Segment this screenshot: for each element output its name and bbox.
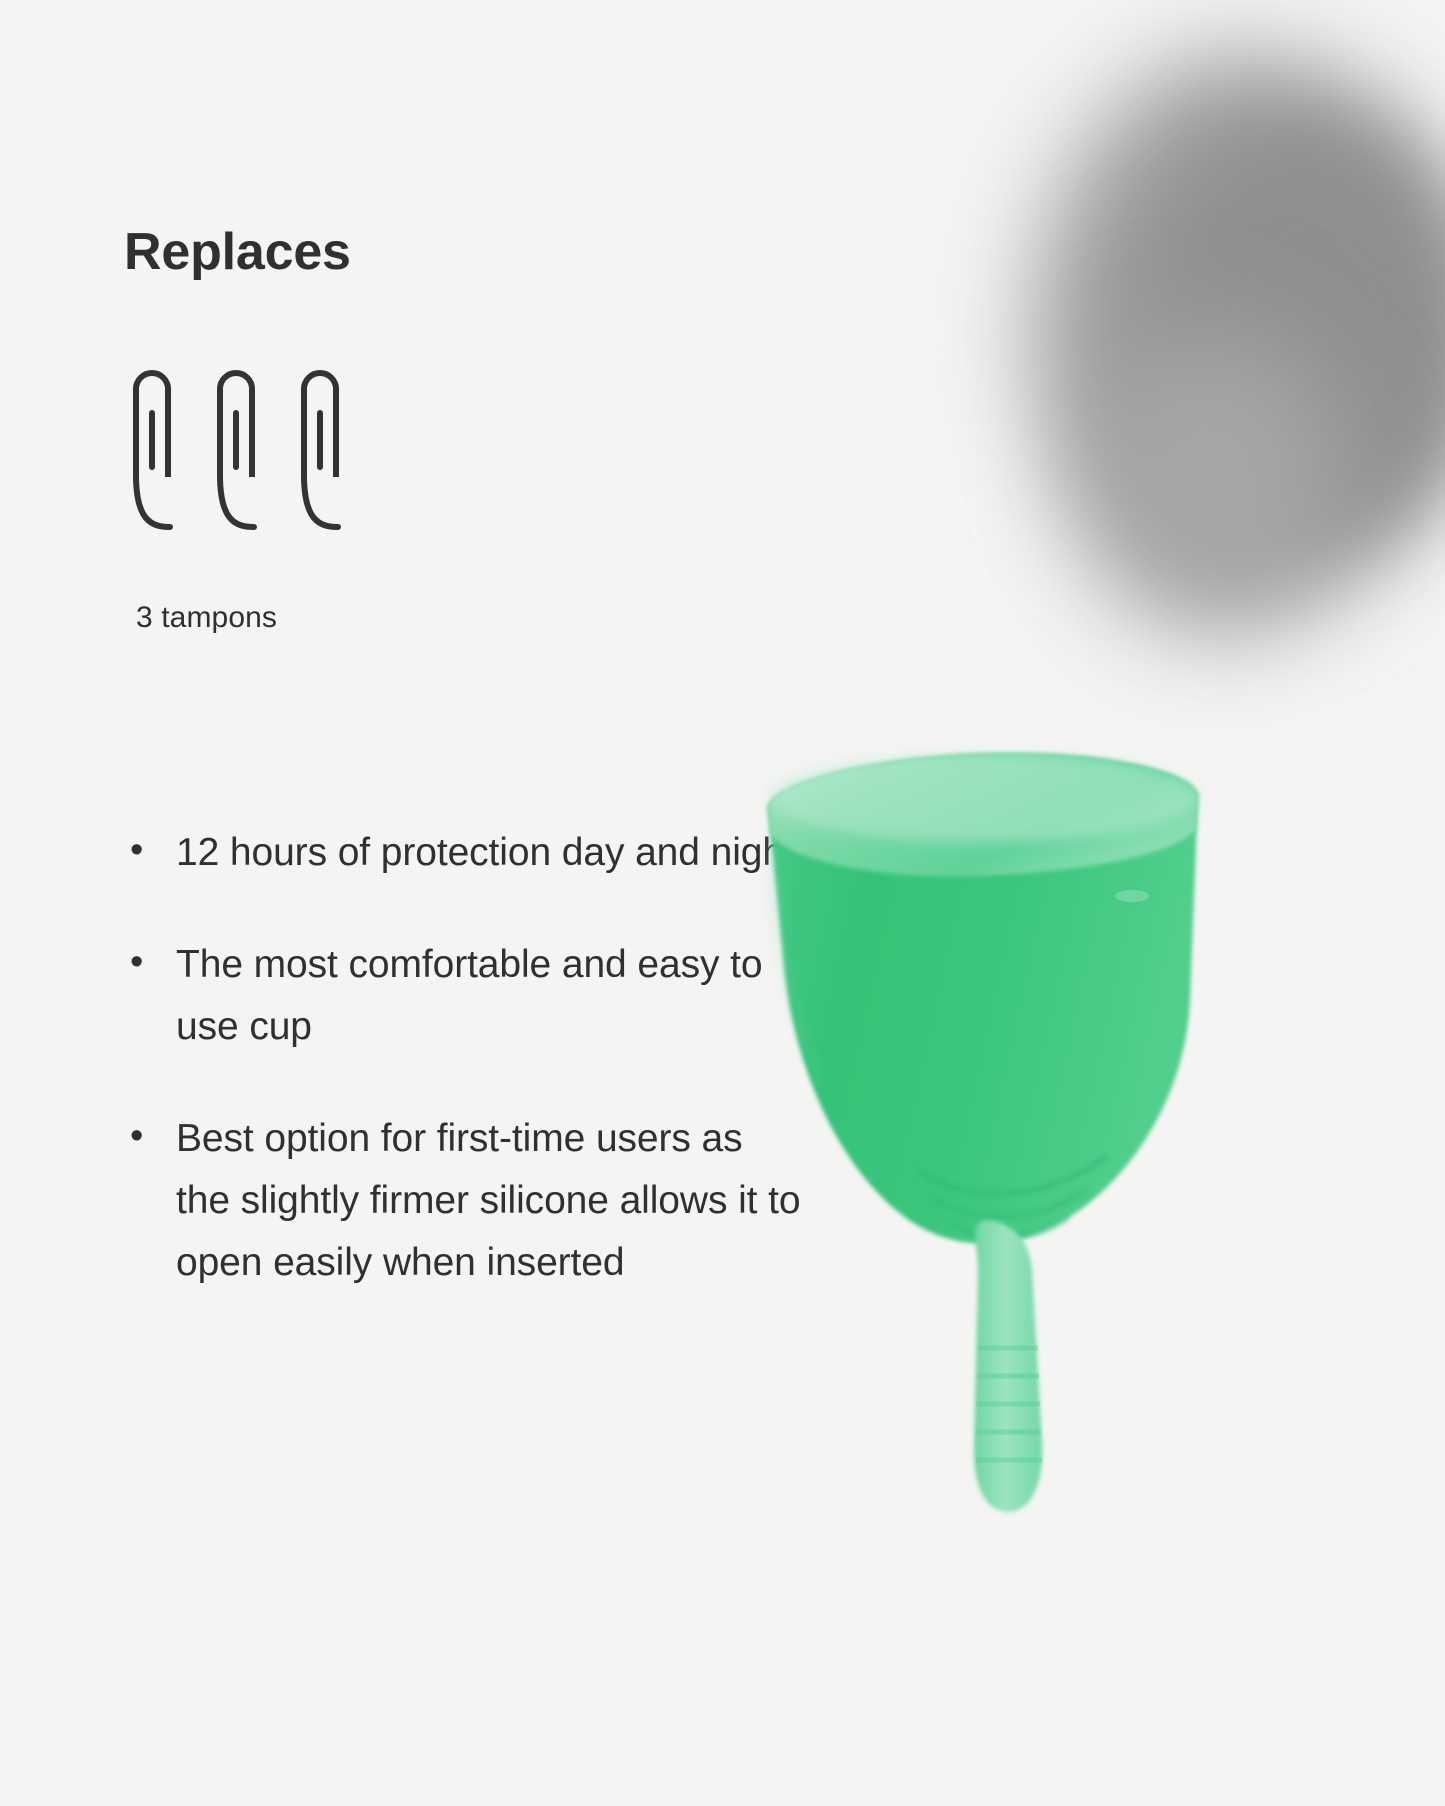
- list-item-label: Best option for first-time users as the …: [176, 1108, 804, 1294]
- bullet-marker: •: [124, 934, 176, 990]
- list-item-label: 12 hours of protection day and night: [176, 822, 804, 884]
- replaces-caption: 3 tampons: [136, 601, 277, 635]
- product-image-menstrual-cup: [720, 700, 1280, 1570]
- replaces-icon-row: [126, 355, 352, 560]
- list-item: • 12 hours of protection day and night: [124, 822, 804, 884]
- bullet-marker: •: [124, 1108, 176, 1164]
- grey-blur-blob-shape-b: [1150, 120, 1445, 540]
- list-item: • The most comfortable and easy to use c…: [124, 934, 804, 1058]
- cup-rim-highlight: [769, 754, 1197, 842]
- product-feature-card: Replaces: [0, 0, 1445, 1806]
- page-title: Replaces: [124, 222, 351, 282]
- cup-stem: [974, 1220, 1042, 1512]
- bullet-marker: •: [124, 822, 176, 878]
- list-item-label: The most comfortable and easy to use cup: [176, 934, 804, 1058]
- tampon-icon: [210, 355, 268, 560]
- list-item: • Best option for first-time users as th…: [124, 1108, 804, 1294]
- text-column: Replaces: [0, 0, 820, 1806]
- grey-blur-blob-shape-a: [1035, 55, 1445, 595]
- grey-blur-blob-shape-c: [1085, 330, 1345, 630]
- cup-air-hole: [1115, 890, 1149, 902]
- tampon-icon: [126, 355, 184, 560]
- tampon-icon: [294, 355, 352, 560]
- feature-list: • 12 hours of protection day and night •…: [124, 822, 804, 1344]
